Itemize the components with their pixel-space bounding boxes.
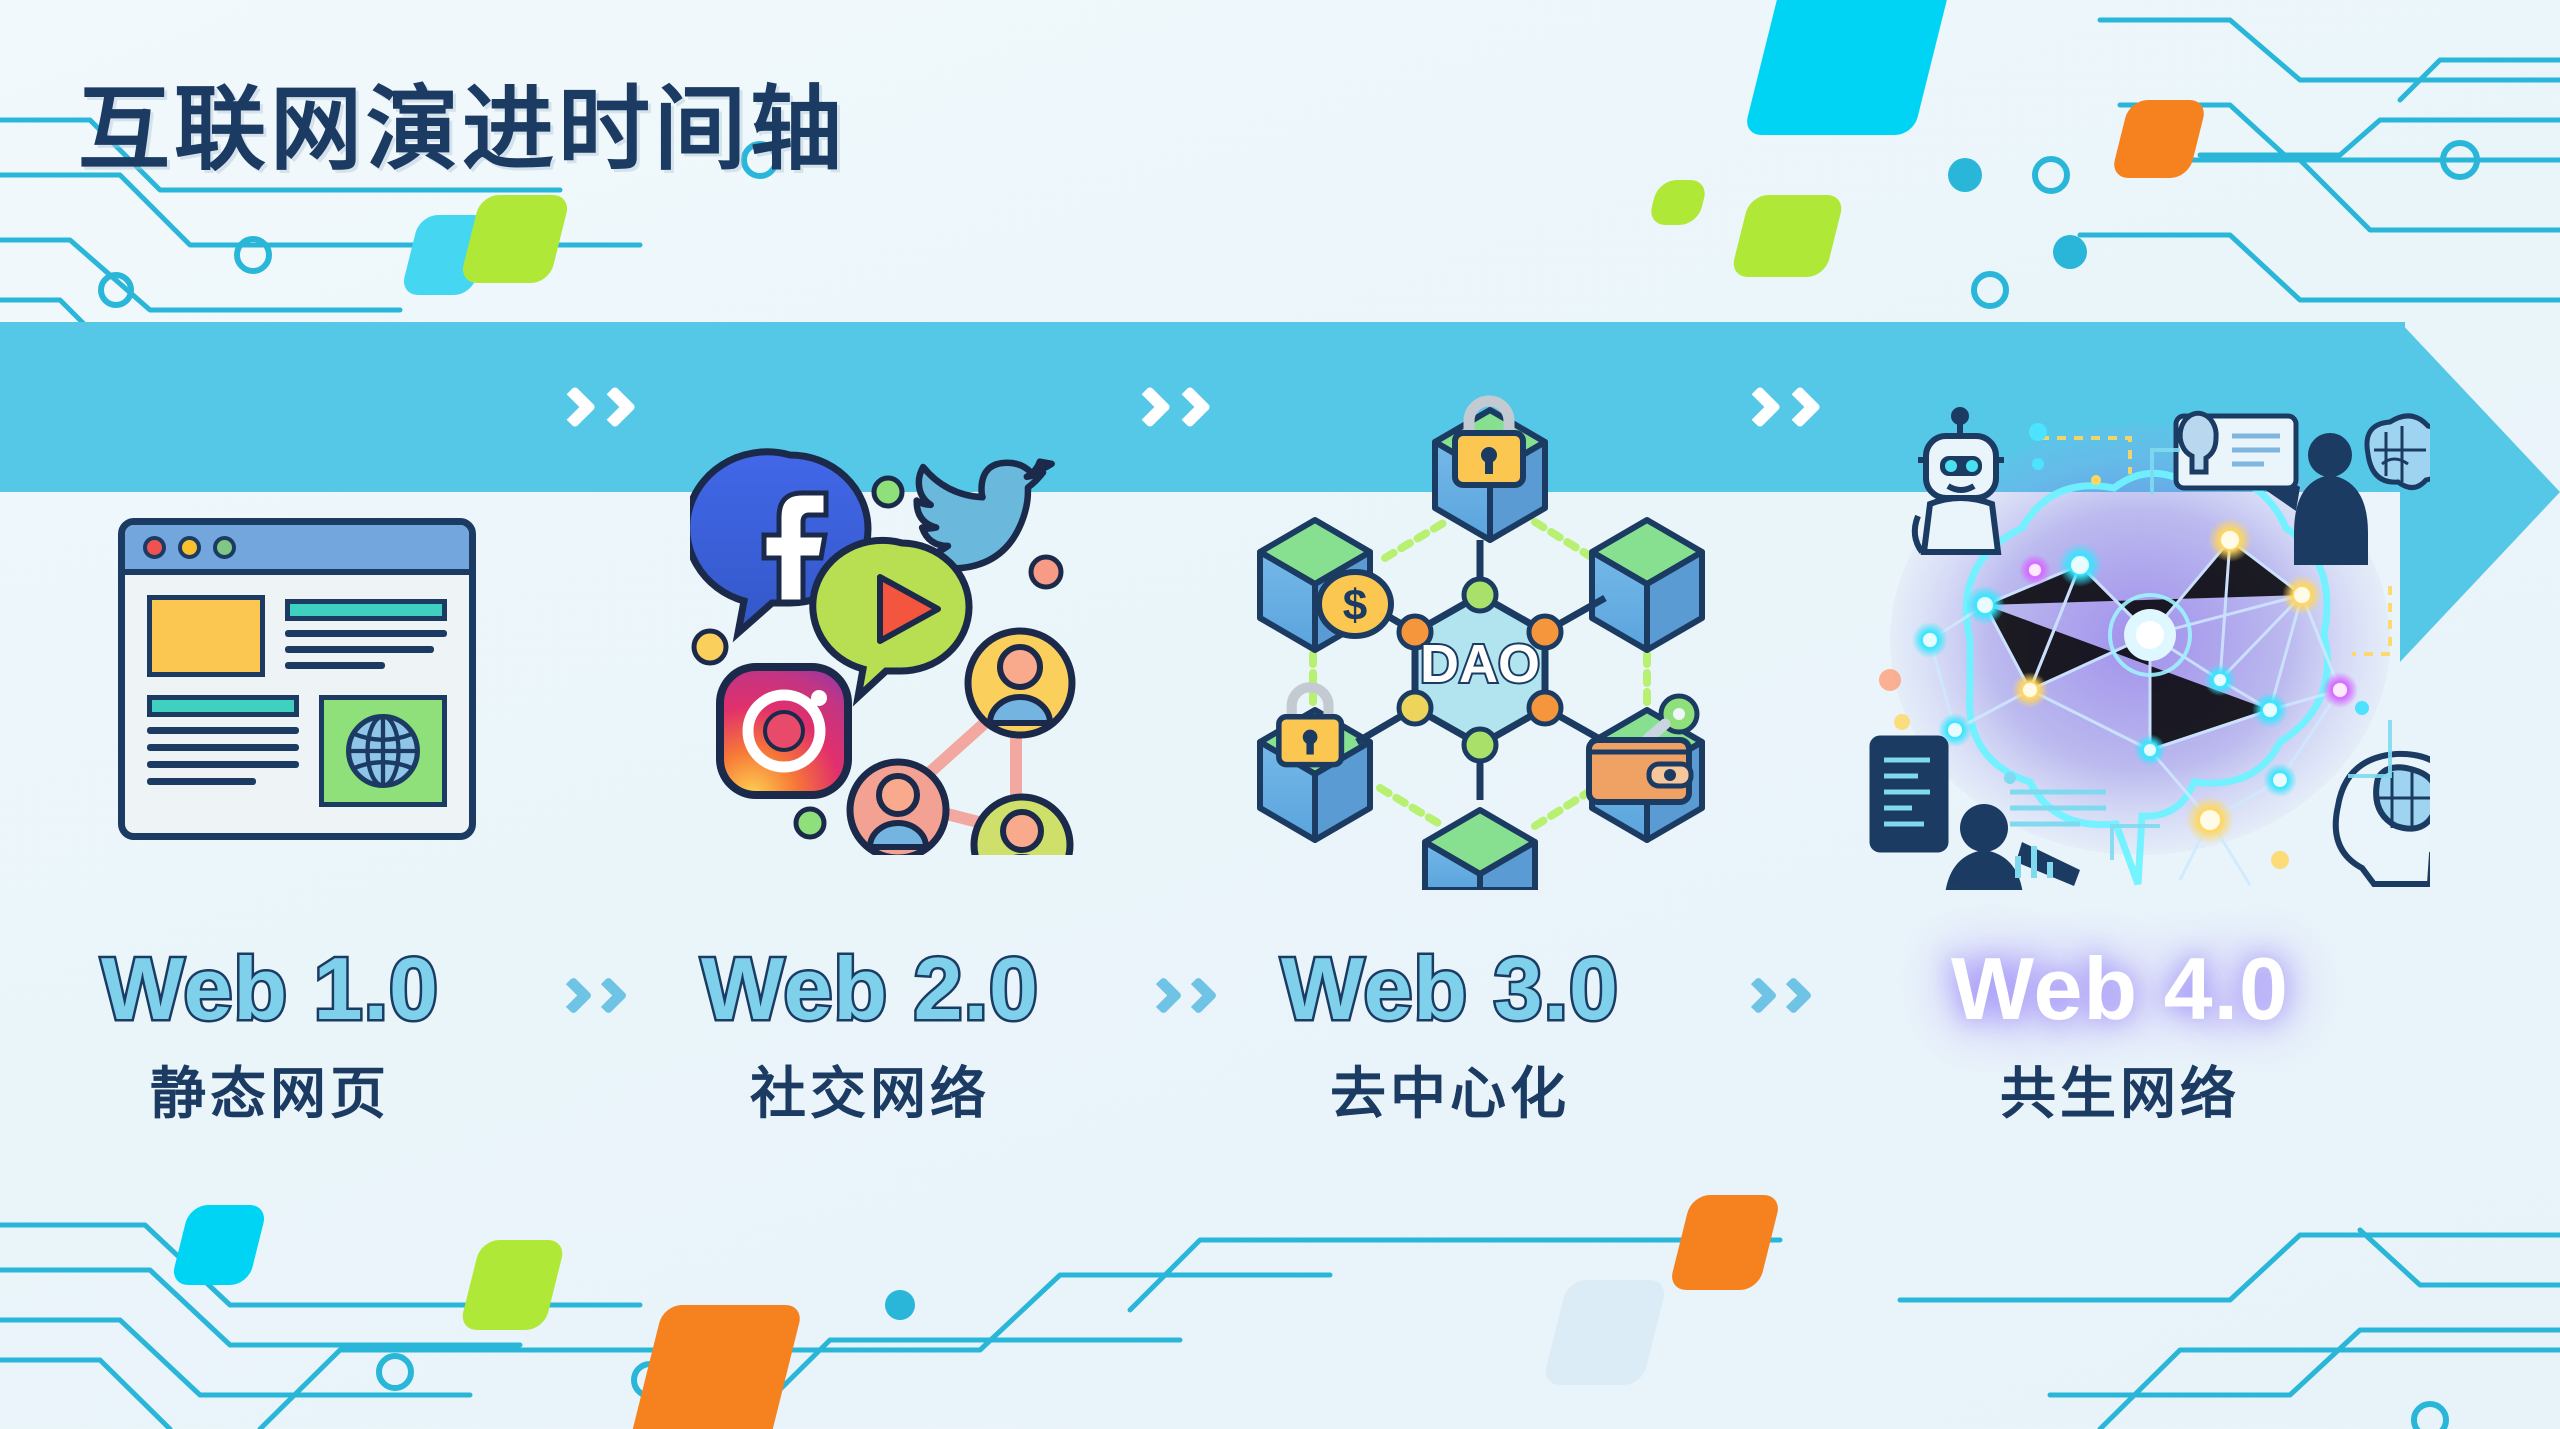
parallelogram-orange-right — [1668, 1195, 1782, 1290]
web1-title: Web 1.0 — [60, 945, 480, 1033]
brain-head-icon — [2367, 416, 2430, 488]
blockchain-network-icon: DAO $ — [1235, 390, 1725, 890]
stage-label-web3[interactable]: Web 3.0 去中心化 — [1240, 945, 1660, 1130]
dollar-coin-icon: $ — [1319, 572, 1391, 636]
parallelogram-lime-small — [1647, 180, 1708, 225]
web3-title: Web 3.0 — [1240, 945, 1660, 1033]
stage-labels-row: Web 1.0 静态网页 Web 2.0 社交网络 Web 3.0 去中心化 W… — [0, 945, 2560, 1165]
user-node-yellow — [968, 631, 1072, 735]
browser-titlebar — [125, 525, 469, 575]
globe-icon — [340, 708, 426, 794]
label-separator-3 — [1745, 967, 1810, 1025]
social-media-cluster-icon — [690, 415, 1120, 855]
ai-neural-brain-icon — [1850, 390, 2430, 890]
browser-content — [125, 575, 469, 827]
stage-label-web2[interactable]: Web 2.0 社交网络 — [660, 945, 1080, 1130]
web3-subtitle: 去中心化 — [1240, 1049, 1660, 1130]
traffic-light-green-icon — [213, 536, 236, 559]
stage-label-web1[interactable]: Web 1.0 静态网页 — [60, 945, 480, 1130]
traffic-light-yellow-icon — [178, 536, 201, 559]
parallelogram-cyan-large — [1743, 0, 1957, 135]
label-separator-2 — [1150, 967, 1215, 1025]
dot-green-icon — [874, 478, 902, 506]
web2-subtitle: 社交网络 — [660, 1049, 1080, 1130]
instagram-icon — [720, 667, 848, 795]
heading-bar — [147, 695, 299, 717]
web4-subtitle: 共生网络 — [1870, 1049, 2370, 1130]
web1-subtitle: 静态网页 — [60, 1049, 480, 1130]
tablet-icon — [1872, 738, 1946, 850]
page-title: 互联网演进时间轴 — [78, 55, 846, 188]
image-placeholder — [147, 595, 265, 677]
web2-title: Web 2.0 — [660, 945, 1080, 1033]
web4-title: Web 4.0 — [1870, 945, 2370, 1033]
parallelogram-orange-top — [2110, 100, 2207, 178]
robot-icon — [1915, 410, 2004, 552]
double-chevron-right-icon — [560, 376, 634, 438]
parallelogram-lime-medium — [1730, 195, 1845, 277]
traffic-light-red-icon — [143, 536, 166, 559]
parallelogram-lime-mid — [459, 195, 571, 283]
svg-text:$: $ — [1343, 581, 1367, 630]
label-separator-1 — [560, 967, 625, 1025]
user-node-pink — [850, 762, 946, 855]
browser-window-icon — [118, 518, 476, 840]
double-chevron-right-icon — [1135, 376, 1209, 438]
parallelogram-cyan-bottom — [170, 1205, 268, 1285]
parallelogram-lime-bottom — [459, 1240, 566, 1330]
stage-label-web4[interactable]: Web 4.0 共生网络 — [1870, 945, 2370, 1130]
double-chevron-right-icon — [1745, 376, 1819, 438]
dot-yellow-icon — [694, 631, 726, 663]
infographic-canvas: 互联网演进时间轴 — [0, 0, 2560, 1429]
dot-salmon-icon — [1031, 557, 1061, 587]
user-node-green — [974, 797, 1070, 855]
parallelogram-orange-bottom — [626, 1305, 803, 1429]
heading-bar — [285, 599, 447, 621]
dot-green-icon — [796, 809, 824, 837]
brain-head-icon — [2336, 754, 2430, 884]
dao-label: DAO — [1420, 634, 1540, 694]
band-separator-2 — [1135, 322, 1209, 492]
band-separator-3 — [1745, 322, 1819, 492]
globe-panel — [319, 695, 447, 807]
band-separator-1 — [560, 322, 634, 492]
dashboard-panel-icon — [2176, 413, 2296, 488]
parallelogram-paleblue-bottom — [1542, 1280, 1668, 1385]
